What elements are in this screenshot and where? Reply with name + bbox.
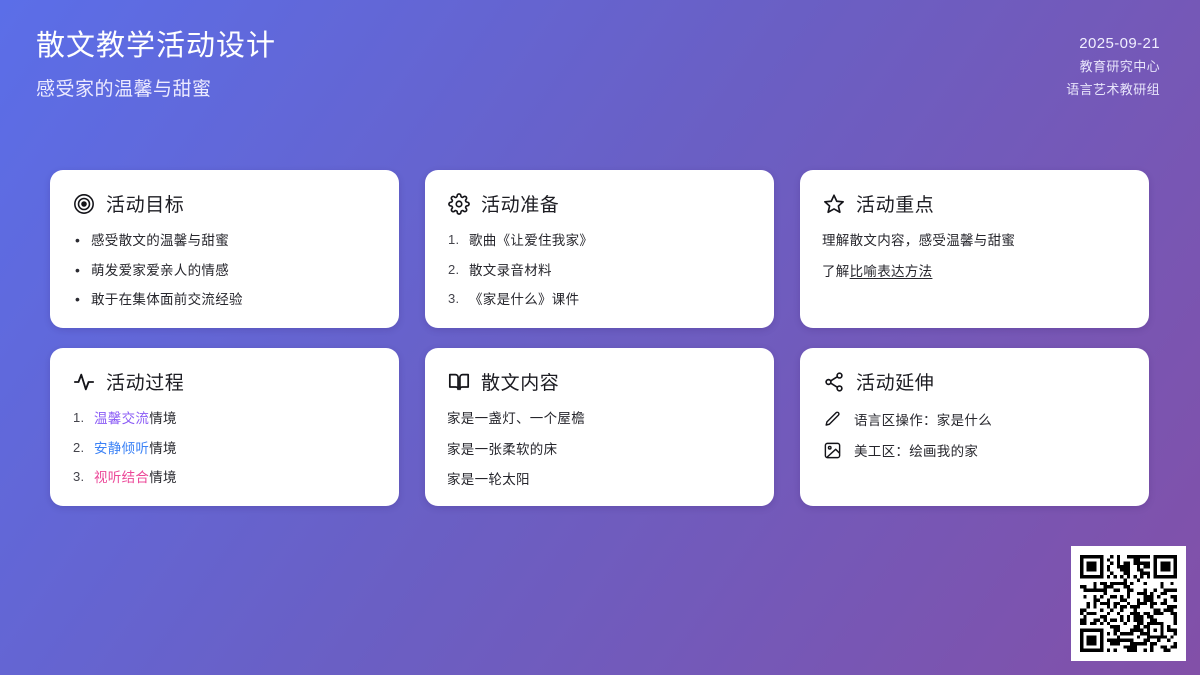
card-focus[interactable]: 活动重点 理解散文内容，感受温馨与甜蜜 了解比喻表达方法: [800, 170, 1149, 328]
card-title: 活动重点: [856, 190, 934, 217]
focus-line-emphasis: 比喻表达方法: [850, 264, 933, 279]
list-item: 《家是什么》课件: [447, 290, 752, 310]
list-item: 歌曲《让爱住我家》: [447, 231, 752, 251]
extension-row[interactable]: 美工区：绘画我的家: [822, 440, 1127, 460]
page-title: 散文教学活动设计: [36, 28, 276, 66]
card-header: 散文内容: [447, 368, 752, 395]
focus-line-text: 了解: [822, 264, 850, 279]
process-list: 温馨交流情境 安静倾听情境 视听结合情境: [72, 409, 377, 488]
card-header: 活动延伸: [822, 368, 1127, 395]
meta-organization: 教育研究中心: [1066, 56, 1160, 75]
item-rest: 情境: [149, 441, 177, 456]
card-header: 活动重点: [822, 190, 1127, 217]
share-icon: [822, 370, 845, 393]
card-title: 散文内容: [481, 368, 559, 395]
card-grid: 活动目标 感受散文的温馨与甜蜜 萌发爱家爱亲人的情感 敢于在集体面前交流经验 活…: [50, 170, 1150, 506]
header-left: 散文教学活动设计 感受家的温馨与甜蜜: [36, 28, 276, 101]
focus-line: 理解散文内容，感受温馨与甜蜜: [822, 231, 1127, 251]
content-line: 家是一轮太阳: [447, 470, 752, 490]
list-item: 萌发爱家爱亲人的情感: [72, 261, 377, 281]
item-highlight: 安静倾听: [94, 441, 149, 456]
open-book-icon: [447, 370, 470, 393]
activity-pulse-icon: [72, 370, 95, 393]
header-meta: 2025-09-21 教育研究中心 语言艺术教研组: [1066, 28, 1160, 98]
list-item: 视听结合情境: [72, 468, 377, 488]
item-highlight: 温馨交流: [94, 411, 149, 426]
page-subtitle: 感受家的温馨与甜蜜: [36, 74, 276, 101]
content-line: 家是一张柔软的床: [447, 440, 752, 460]
meta-team: 语言艺术教研组: [1066, 79, 1160, 98]
slide-header: 散文教学活动设计 感受家的温馨与甜蜜 2025-09-21 教育研究中心 语言艺…: [0, 0, 1200, 140]
item-highlight: 视听结合: [94, 470, 149, 485]
card-title: 活动延伸: [856, 368, 934, 395]
extension-row[interactable]: 语言区操作：家是什么: [822, 409, 1127, 429]
card-process[interactable]: 活动过程 温馨交流情境 安静倾听情境 视听结合情境: [50, 348, 399, 506]
gear-icon: [447, 192, 470, 215]
item-rest: 情境: [149, 470, 177, 485]
focus-line-text: 理解散文内容，感受温馨与甜蜜: [822, 233, 1015, 248]
card-content[interactable]: 散文内容 家是一盏灯、一个屋檐 家是一张柔软的床 家是一轮太阳: [425, 348, 774, 506]
list-item: 感受散文的温馨与甜蜜: [72, 231, 377, 251]
image-icon: [822, 440, 842, 460]
meta-date: 2025-09-21: [1066, 35, 1160, 52]
list-item: 敢于在集体面前交流经验: [72, 290, 377, 310]
extension-label: 语言区操作：家是什么: [854, 409, 992, 429]
list-item: 温馨交流情境: [72, 409, 377, 429]
card-title: 活动目标: [106, 190, 184, 217]
objectives-list: 感受散文的温馨与甜蜜 萌发爱家爱亲人的情感 敢于在集体面前交流经验: [72, 231, 377, 310]
star-icon: [822, 192, 845, 215]
card-objectives[interactable]: 活动目标 感受散文的温馨与甜蜜 萌发爱家爱亲人的情感 敢于在集体面前交流经验: [50, 170, 399, 328]
card-extension[interactable]: 活动延伸 语言区操作：家是什么 美工区：绘画我的家: [800, 348, 1149, 506]
list-item: 散文录音材料: [447, 261, 752, 281]
content-line: 家是一盏灯、一个屋檐: [447, 409, 752, 429]
card-header: 活动目标: [72, 190, 377, 217]
target-icon: [72, 192, 95, 215]
card-header: 活动准备: [447, 190, 752, 217]
qr-code[interactable]: [1071, 546, 1186, 661]
list-item: 安静倾听情境: [72, 439, 377, 459]
pencil-icon: [822, 409, 842, 429]
extension-label: 美工区：绘画我的家: [854, 440, 978, 460]
qr-code-image: [1080, 555, 1177, 652]
card-title: 活动准备: [481, 190, 559, 217]
card-header: 活动过程: [72, 368, 377, 395]
item-rest: 情境: [149, 411, 177, 426]
card-preparation[interactable]: 活动准备 歌曲《让爱住我家》 散文录音材料 《家是什么》课件: [425, 170, 774, 328]
preparation-list: 歌曲《让爱住我家》 散文录音材料 《家是什么》课件: [447, 231, 752, 310]
card-title: 活动过程: [106, 368, 184, 395]
focus-line: 了解比喻表达方法: [822, 262, 1127, 282]
